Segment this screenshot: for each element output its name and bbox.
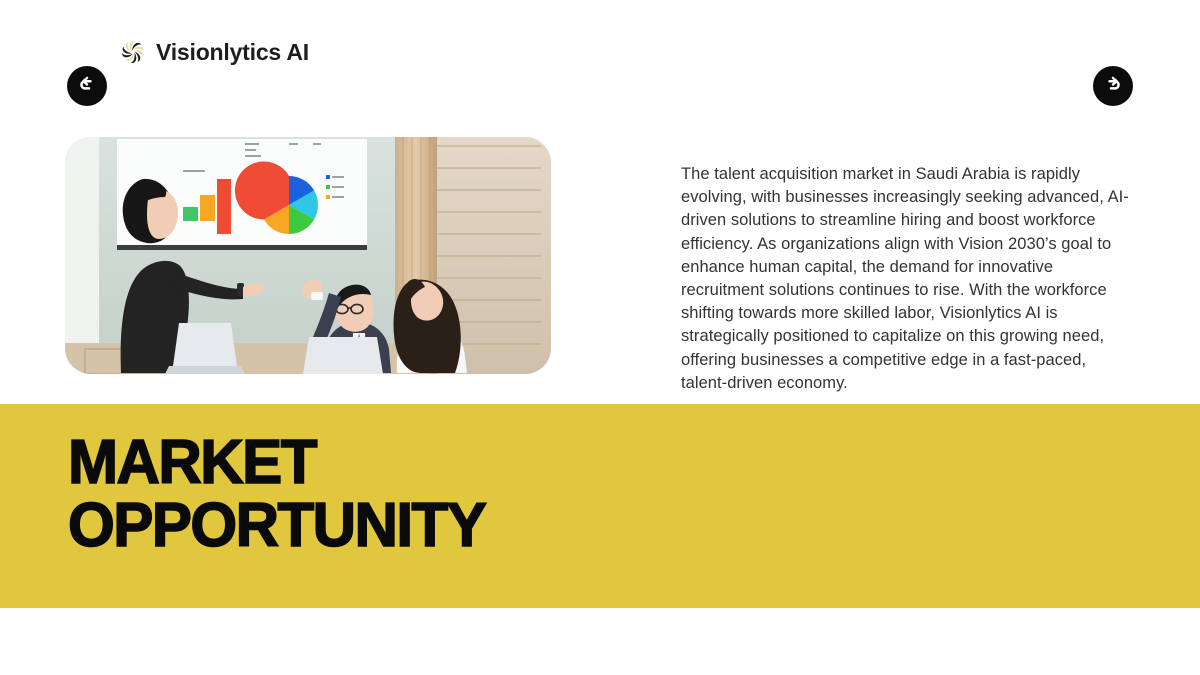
meeting-presentation-photo bbox=[65, 137, 551, 374]
pinwheel-flower-icon bbox=[120, 39, 146, 65]
redo-button[interactable] bbox=[1093, 66, 1133, 106]
redo-arrow-icon bbox=[1102, 75, 1124, 97]
page-title-line-2: OPPORTUNITY bbox=[68, 494, 485, 557]
page-title-line-1: MARKET bbox=[68, 431, 485, 494]
slide-root: Visionlytics AI bbox=[0, 0, 1200, 675]
brand-name: Visionlytics AI bbox=[156, 41, 309, 64]
undo-button[interactable] bbox=[67, 66, 107, 106]
undo-arrow-icon bbox=[76, 75, 98, 97]
page-title: MARKET OPPORTUNITY bbox=[68, 431, 485, 557]
brand-lockup: Visionlytics AI bbox=[120, 37, 309, 67]
market-opportunity-paragraph: The talent acquisition market in Saudi A… bbox=[681, 163, 1133, 395]
